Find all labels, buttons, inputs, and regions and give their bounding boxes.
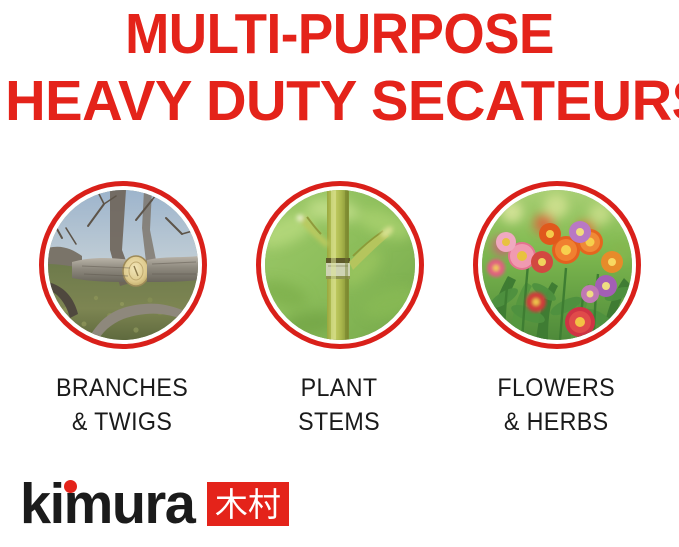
feature-ring-flowers [473, 181, 641, 349]
feature-caption-stems-line2: STEMS [299, 406, 381, 440]
feature-caption-flowers: FLOWERS & HERBS [498, 372, 616, 440]
feature-caption-branches-line2: & TWIGS [56, 406, 188, 440]
brand-kanji-text: 木村 [215, 488, 281, 521]
headline-line-1: MULTI-PURPOSE [24, 5, 655, 64]
headline-line-2: HEAVY DUTY SECATEURS [5, 72, 674, 131]
feature-flowers: FLOWERS & HERBS [453, 181, 660, 440]
brand-kanji-badge: 木村 [207, 482, 289, 526]
product-feature-banner: MULTI-PURPOSE HEAVY DUTY SECATEURS [0, 0, 679, 547]
feature-branches: BRANCHES & TWIGS [19, 181, 226, 440]
feature-caption-flowers-line2: & HERBS [498, 406, 616, 440]
feature-ring-branches [39, 181, 207, 349]
feature-ring-stems [256, 181, 424, 349]
brand-i-dot-icon [64, 480, 77, 493]
feature-image-circle-flowers [473, 181, 641, 349]
feature-image-circle-branches [39, 181, 207, 349]
feature-caption-flowers-line1: FLOWERS [498, 372, 616, 406]
brand-logo: kimura 木村 [20, 481, 289, 527]
feature-row: BRANCHES & TWIGS [0, 181, 679, 440]
feature-caption-branches-line1: BRANCHES [56, 372, 188, 406]
headline-block: MULTI-PURPOSE HEAVY DUTY SECATEURS [0, 0, 679, 130]
feature-image-circle-stems [256, 181, 424, 349]
feature-caption-branches: BRANCHES & TWIGS [56, 372, 188, 440]
feature-stems: PLANT STEMS [236, 181, 443, 440]
feature-caption-stems: PLANT STEMS [299, 372, 381, 440]
brand-wordmark: kimura [20, 481, 194, 527]
feature-caption-stems-line1: PLANT [299, 372, 381, 406]
